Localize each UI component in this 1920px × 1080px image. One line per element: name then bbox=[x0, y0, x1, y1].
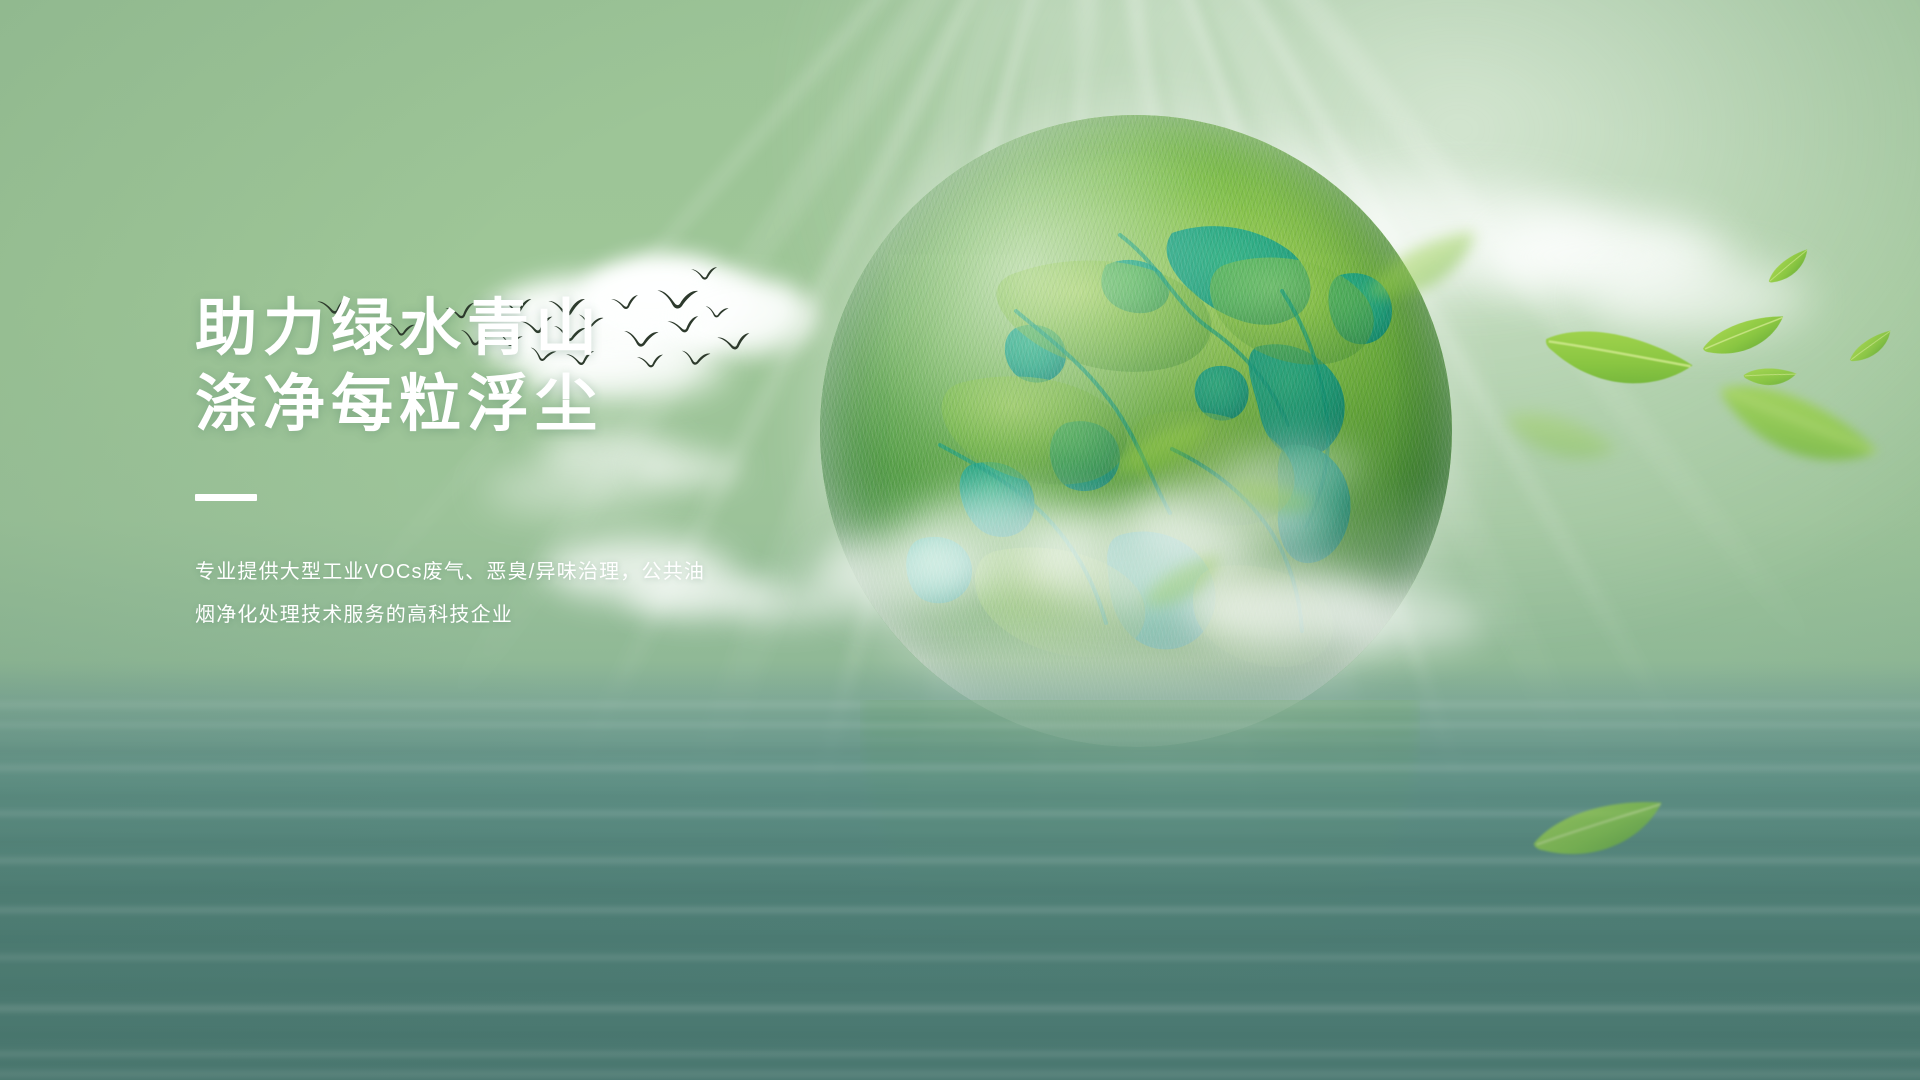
green-earth-globe bbox=[820, 115, 1452, 747]
leaf-icon bbox=[1531, 308, 1702, 416]
headline-line-1: 助力绿水青山 bbox=[195, 296, 875, 362]
water-ripple bbox=[0, 810, 1920, 817]
globe-water-reflection bbox=[860, 700, 1420, 1080]
leaf-icon bbox=[1761, 243, 1819, 293]
banner-subtitle: 专业提供大型工业VOCs废气、恶臭/异味治理，公共油烟净化处理技术服务的高科技企… bbox=[195, 551, 720, 637]
banner-copy: 助力绿水青山 涤净每粒浮尘 专业提供大型工业VOCs废气、恶臭/异味治理，公共油… bbox=[195, 296, 875, 637]
reflection-fade bbox=[860, 700, 1420, 1080]
water-ripple bbox=[0, 882, 1920, 898]
leaf-icon bbox=[1739, 364, 1801, 392]
water-ripple bbox=[0, 1028, 1920, 1042]
reflection-ripples bbox=[860, 700, 1420, 1080]
water-ripple bbox=[0, 788, 1920, 806]
headline-line-2: 涤净每粒浮尘 bbox=[195, 372, 875, 438]
water-ripple bbox=[0, 1068, 1920, 1080]
cloud bbox=[1485, 212, 1735, 304]
globe-sphere bbox=[820, 115, 1452, 747]
leaf-icon bbox=[1701, 355, 1889, 505]
water-ripple bbox=[0, 836, 1920, 848]
leaf-icon bbox=[1521, 791, 1678, 872]
water-ripple bbox=[0, 932, 1920, 946]
leaf-icon bbox=[1495, 393, 1625, 487]
cloud bbox=[1585, 260, 1815, 340]
water-ripple bbox=[0, 1050, 1920, 1058]
leaf-icon bbox=[1844, 326, 1900, 370]
water-ripple bbox=[0, 906, 1920, 914]
leaf-icon bbox=[1694, 309, 1796, 367]
water-ripple bbox=[0, 954, 1920, 961]
title-divider bbox=[195, 494, 257, 501]
water-ripple bbox=[0, 764, 1920, 772]
water-ripple bbox=[0, 856, 1920, 865]
bird-icon bbox=[690, 266, 719, 281]
water-ripple bbox=[0, 978, 1920, 996]
water-ripple bbox=[0, 1004, 1920, 1013]
globe-continents-icon bbox=[820, 115, 1452, 747]
eco-hero-banner: 助力绿水青山 涤净每粒浮尘 专业提供大型工业VOCs废气、恶臭/异味治理，公共油… bbox=[0, 0, 1920, 1080]
